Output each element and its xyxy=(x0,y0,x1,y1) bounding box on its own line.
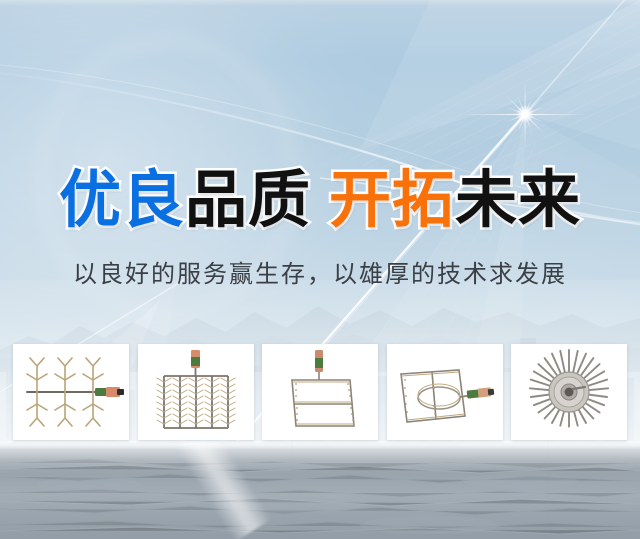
product-card[interactable] xyxy=(13,344,129,440)
heating-element-frame-double-icon xyxy=(262,344,378,440)
subtitle: 以良好的服务赢生存，以雄厚的技术求发展 xyxy=(0,258,640,292)
product-card[interactable] xyxy=(511,344,627,440)
headline-part-3: 开拓 xyxy=(329,166,455,235)
ground-surface xyxy=(0,441,640,539)
product-card[interactable] xyxy=(138,344,254,440)
product-card[interactable] xyxy=(262,344,378,440)
heating-element-ring-frame-icon xyxy=(387,344,503,440)
heating-element-radial-star-icon xyxy=(511,344,627,440)
headline-part-2: 品质 xyxy=(185,166,311,235)
product-card-row xyxy=(13,344,627,442)
heating-element-branched-icon xyxy=(13,344,129,440)
headline-part-1: 优良 xyxy=(59,166,185,235)
headline-part-4: 未来 xyxy=(455,166,581,235)
ground-top-sheen xyxy=(0,441,640,471)
heating-element-finned-rectangular-icon xyxy=(138,344,254,440)
promo-banner: 优良品质开拓未来 以良好的服务赢生存，以雄厚的技术求发展 xyxy=(0,0,640,539)
headline: 优良品质开拓未来 xyxy=(0,166,640,236)
product-card[interactable] xyxy=(387,344,503,440)
